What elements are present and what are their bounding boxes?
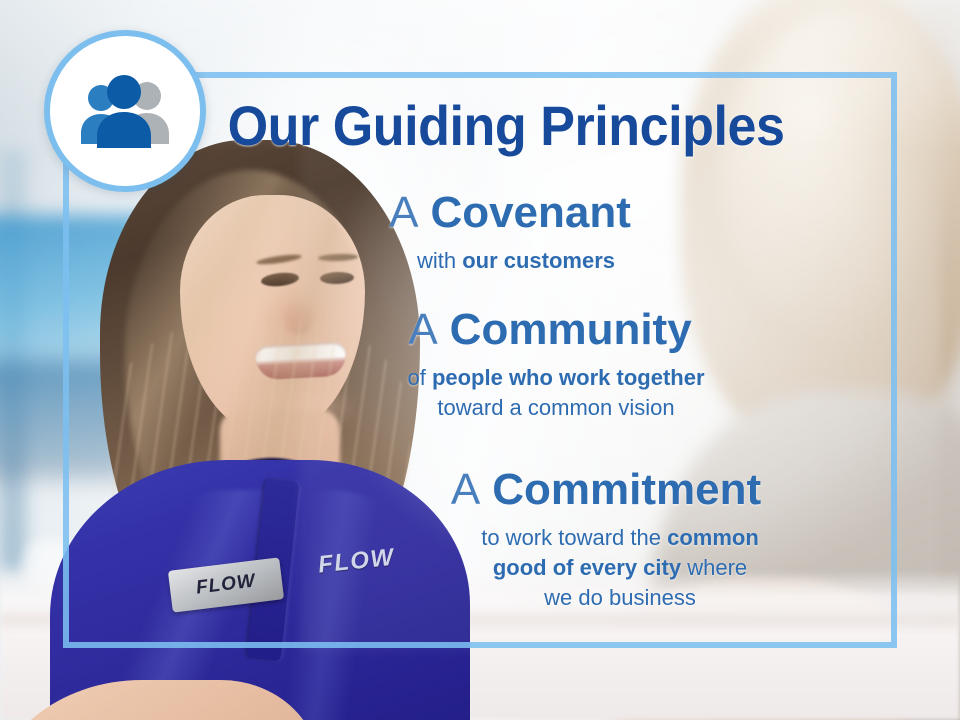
principle-community-subline-2: toward a common vision xyxy=(152,393,960,423)
principle-community-subline-1: of people who work together xyxy=(152,363,960,393)
principle-commitment-subline-2: good of every city where xyxy=(280,553,960,583)
poster-text-content: Our Guiding Principles ACovenant with ou… xyxy=(0,0,960,720)
principle-commitment-subtext: to work toward the common good of every … xyxy=(0,523,960,613)
principle-covenant: ACovenant with our customers xyxy=(0,188,960,276)
principle-commitment-subline-3: we do business xyxy=(280,583,960,613)
principle-community-article: A xyxy=(408,305,437,354)
principle-covenant-subline-1: with our customers xyxy=(72,246,960,276)
principle-community-heading: ACommunity xyxy=(0,305,960,355)
principle-commitment: ACommitment to work toward the common go… xyxy=(0,465,960,613)
principle-commitment-subline-1: to work toward the common xyxy=(280,523,960,553)
principle-covenant-article: A xyxy=(389,188,418,237)
principle-commitment-word: Commitment xyxy=(492,465,761,514)
principle-community-word: Community xyxy=(450,305,692,354)
principle-community: ACommunity of people who work together t… xyxy=(0,305,960,423)
principle-covenant-heading: ACovenant xyxy=(0,188,960,238)
principle-commitment-article: A xyxy=(451,465,480,514)
customer-hair-highlight xyxy=(720,10,960,340)
poster-title: Our Guiding Principles xyxy=(34,96,927,156)
principle-covenant-subtext: with our customers xyxy=(0,246,960,276)
principle-commitment-heading: ACommitment xyxy=(0,465,960,515)
principle-covenant-word: Covenant xyxy=(430,188,630,237)
guiding-principles-poster: FLOW FLOW xyxy=(0,0,960,720)
principle-community-subtext: of people who work together toward a com… xyxy=(0,363,960,423)
